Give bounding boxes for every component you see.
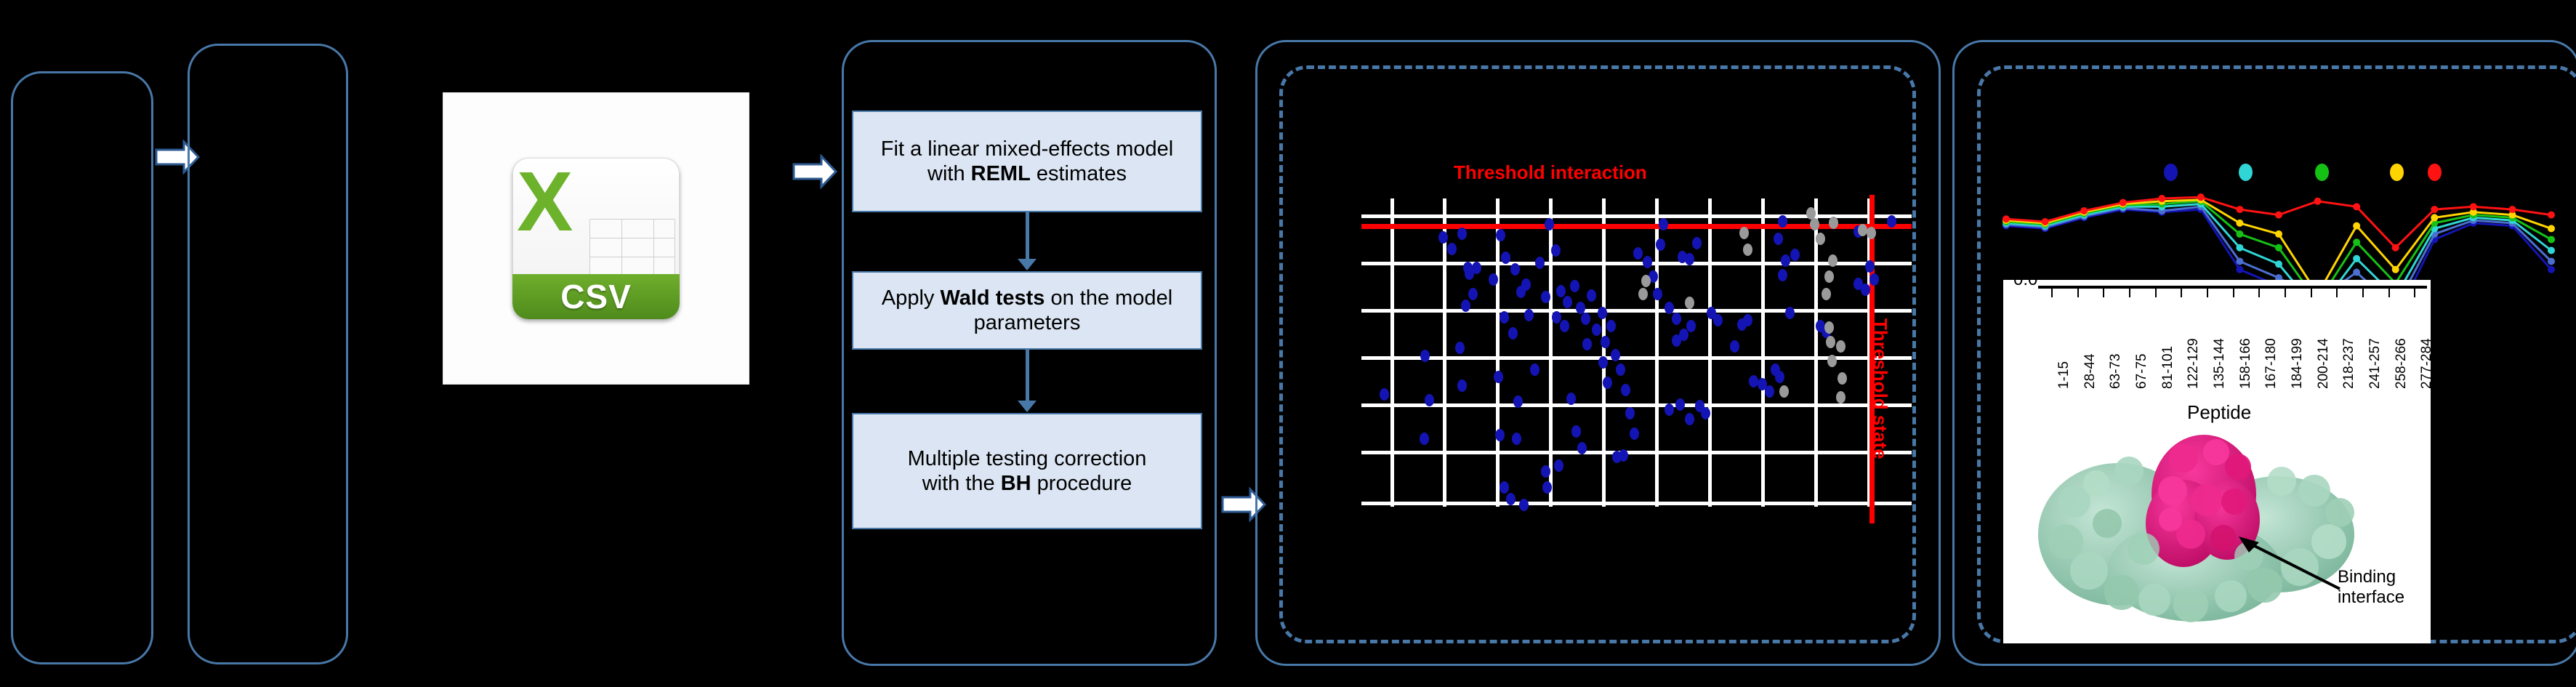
scatter-point (1701, 407, 1710, 419)
scatter-point (1865, 260, 1875, 273)
chart-data-point (2236, 258, 2243, 265)
chart-data-point (2392, 266, 2399, 273)
scatter-point (1598, 307, 1607, 319)
chart-data-point (2548, 212, 2555, 219)
chart-data-point (2197, 193, 2205, 201)
scatter-point (1659, 218, 1668, 230)
scatter-point (1420, 350, 1430, 362)
x-axis-tick-label: 63-73 (2108, 353, 2124, 389)
scatter-point (1822, 288, 1831, 300)
scatter-point (1461, 300, 1470, 312)
scatter-point (1713, 314, 1723, 326)
chart-data-point (2080, 207, 2088, 214)
y-axis-value: 0.0 (2013, 270, 2037, 290)
scatter-point (1781, 254, 1790, 267)
threshold-interaction-label: Threshold interaction (1454, 161, 1647, 184)
connector-2-arrowhead (1018, 401, 1037, 412)
grid-v (1496, 198, 1500, 507)
scatter-point (1861, 284, 1870, 296)
binding-interface-annotation: Binding interface (2338, 567, 2404, 607)
chart-data-point (2353, 255, 2360, 262)
scatter-point (1455, 342, 1465, 354)
grid-h (1361, 403, 1912, 407)
scatter-point (1541, 465, 1550, 478)
scatter-point (1508, 327, 1518, 340)
scatter-point (1685, 297, 1694, 309)
scatter-point (1611, 349, 1620, 361)
chart-data-point (2548, 266, 2555, 273)
scatter-point (1653, 288, 1662, 300)
scatter-point (1749, 375, 1758, 387)
scatter-point (1730, 340, 1739, 353)
x-axis-tick-label: 200-214 (2316, 338, 2332, 389)
chart-data-point (2236, 206, 2243, 213)
spreadsheet-grid (520, 219, 675, 276)
scatter-point (1495, 429, 1505, 441)
scatter-point (1552, 311, 1561, 324)
scatter-point (1685, 253, 1694, 265)
scatter-point (1500, 481, 1509, 494)
x-axis-tick (2414, 289, 2415, 297)
scatter-point (1686, 320, 1696, 332)
chart-data-point (2003, 215, 2010, 222)
scatter-point (1535, 257, 1545, 269)
scatter-point (1774, 233, 1783, 245)
scatter-point (1771, 363, 1780, 376)
scatter-point (1560, 320, 1569, 332)
x-axis-tick-label: 218-237 (2341, 338, 2357, 389)
scatter-point (1656, 238, 1665, 251)
chart-data-point (2275, 244, 2282, 252)
grid-h (1361, 451, 1912, 454)
scatter-point (1743, 244, 1752, 256)
x-axis-tick-label: 167-180 (2263, 338, 2279, 389)
binding-interface-line2: interface (2338, 587, 2404, 608)
scatter-point (1519, 499, 1529, 511)
grid-v (1814, 198, 1818, 507)
chart-data-point (2158, 195, 2165, 202)
scatter-point (1838, 372, 1847, 385)
scatter-point (1887, 215, 1896, 228)
x-axis-tick (2258, 289, 2260, 297)
chart-data-point (2431, 206, 2438, 213)
grid-v (1708, 198, 1712, 507)
scatter-point (1592, 324, 1601, 336)
scatter-point (1867, 227, 1876, 239)
binding-interface-line1: Binding (2338, 567, 2404, 587)
x-axis-tick (2051, 289, 2053, 297)
scatter-point (1489, 273, 1498, 286)
x-axis-tick (2181, 289, 2182, 297)
scatter-point (1743, 314, 1752, 326)
legend-dot (2315, 164, 2329, 181)
chart-data-point (2353, 203, 2360, 210)
scatter-point (1581, 313, 1590, 325)
scatter-point (1582, 338, 1592, 350)
peptide-line-chart (1992, 153, 2573, 298)
step-wald-text: Apply Wald tests on the model parameters (861, 286, 1194, 335)
chart-data-point (2120, 199, 2127, 206)
scatter-point (1790, 249, 1800, 261)
scatter-point (1836, 391, 1846, 403)
x-axis-tick-label: 67-75 (2134, 353, 2150, 389)
scatter-point (1438, 231, 1448, 244)
scatter-point (1542, 481, 1552, 494)
scatter-point (1501, 252, 1510, 264)
chart-data-point (2275, 260, 2282, 268)
scatter-point (1675, 398, 1685, 411)
legend-dot (2239, 164, 2253, 181)
scatter-point (1510, 263, 1520, 276)
chart-data-point (2353, 238, 2360, 246)
legend-dot (2428, 164, 2442, 181)
grid-v (1443, 198, 1446, 507)
scatter-point (1556, 285, 1566, 297)
scatter-point (1380, 388, 1389, 401)
chart-data-point (2508, 206, 2516, 213)
x-axis-tick-label: 241-257 (2367, 338, 2383, 389)
x-axis-tick-label: 122-129 (2186, 338, 2202, 389)
scatter-point (1869, 273, 1879, 286)
step-correction-text: Multiple testing correctionwith the BH p… (908, 446, 1147, 496)
chart-data-point (2548, 246, 2555, 254)
grid-v (1390, 198, 1394, 507)
scatter-point (1665, 302, 1674, 314)
csv-label-band: CSV (512, 274, 680, 319)
x-axis-tick (2103, 289, 2104, 297)
scatter-point (1494, 371, 1503, 383)
scatter-point (1621, 384, 1630, 396)
chart-data-point (2548, 236, 2555, 243)
scatter-point (1630, 427, 1639, 440)
scatter-point (1633, 247, 1643, 260)
scatter-point (1778, 269, 1787, 281)
step-model-text: Fit a linear mixed-effects model with RE… (861, 137, 1194, 186)
threshold-scatter-plot: Threshold interaction Threshold state (1345, 145, 1919, 523)
csv-label: CSV (560, 277, 632, 316)
connector-2 (1026, 350, 1029, 402)
scatter-point (1810, 218, 1819, 230)
step-model-box: Fit a linear mixed-effects model with RE… (852, 111, 1202, 212)
scatter-point (1827, 355, 1837, 367)
scatter-point (1641, 275, 1651, 287)
step-correction-box: Multiple testing correctionwith the BH p… (852, 413, 1202, 529)
legend-dot (2164, 164, 2178, 181)
scatter-point (1619, 449, 1628, 462)
scatter-point (1457, 228, 1467, 240)
scatter-point (1824, 270, 1834, 283)
grid-v (1602, 198, 1606, 507)
scatter-point (1824, 321, 1834, 334)
x-axis-tick (2155, 289, 2157, 297)
x-axis-tick (2207, 289, 2208, 297)
grid-h (1361, 214, 1912, 218)
x-axis-tick-label: 158-166 (2238, 338, 2254, 389)
scatter-point (1506, 493, 1516, 505)
scatter-point (1563, 296, 1572, 308)
chart-data-point (2314, 198, 2322, 205)
scatter-point (1625, 407, 1635, 419)
x-axis-tick (2077, 289, 2079, 297)
scatter-point (1739, 227, 1749, 239)
scatter-point (1779, 385, 1789, 398)
chart-data-point (2353, 222, 2360, 230)
x-axis-tick (2285, 289, 2286, 297)
x-axis-tick-label: 81-101 (2160, 346, 2176, 389)
data-panel (188, 44, 348, 664)
scatter-point (1785, 307, 1795, 319)
scatter-point (1551, 244, 1561, 257)
grid-v (1549, 198, 1553, 507)
chart-data-point (2548, 258, 2555, 265)
x-axis-tick-label: 184-199 (2290, 338, 2306, 389)
scatter-point (1829, 217, 1838, 229)
scatter-point (1858, 224, 1867, 236)
x-axis-tick (2129, 289, 2130, 297)
connector-1-arrowhead (1018, 259, 1037, 270)
chart-data-point (2236, 230, 2243, 238)
x-axis-tick (2362, 289, 2364, 297)
chart-data-point (2236, 244, 2243, 252)
chart-data-point (2042, 218, 2049, 225)
scatter-point (1468, 288, 1478, 300)
chart-data-point (2392, 244, 2399, 252)
x-axis-tick-label: 1-15 (2056, 361, 2072, 389)
scatter-point (1571, 425, 1581, 438)
scatter-point (1457, 379, 1467, 392)
scatter-point (1472, 262, 1481, 274)
csv-file-icon: X CSV (512, 158, 680, 319)
chart-data-point (2431, 214, 2438, 221)
scatter-point (1665, 403, 1674, 416)
grid-h (1361, 502, 1912, 505)
scatter-point (1598, 356, 1608, 369)
scatter-point (1836, 340, 1846, 353)
scatter-point (1554, 459, 1563, 472)
input-panel (11, 71, 153, 664)
legend-dot (2390, 164, 2404, 181)
x-axis-tick-label: 277-284 (2419, 338, 2435, 389)
scatter-point (1545, 218, 1554, 230)
scatter-point (1512, 433, 1521, 445)
x-axis-tick (2388, 289, 2390, 297)
chart-data-point (2548, 225, 2555, 232)
scatter-point (1530, 363, 1539, 376)
scatter-point (1638, 288, 1648, 300)
chart-data-point (2236, 220, 2243, 227)
scatter-point (1765, 385, 1774, 398)
scatter-point (1826, 336, 1835, 348)
step-wald-box: Apply Wald tests on the model parameters (852, 271, 1202, 350)
grid-h (1361, 309, 1912, 313)
scatter-point (1685, 413, 1694, 425)
scatter-point (1447, 243, 1457, 255)
scatter-point (1692, 237, 1702, 249)
scatter-point (1577, 442, 1587, 454)
scatter-point (1643, 256, 1652, 268)
scatter-point (1816, 233, 1825, 245)
scatter-point (1496, 229, 1505, 241)
scatter-point (1570, 280, 1579, 292)
scatter-point (1601, 336, 1610, 348)
x-axis-tick (2311, 289, 2312, 297)
x-axis-tick (2336, 289, 2338, 297)
scatter-point (1425, 394, 1434, 406)
x-axis-tick-label: 28-44 (2082, 353, 2098, 389)
scatter-point (1778, 215, 1787, 228)
scatter-point (1606, 320, 1616, 332)
threshold-state-label: Threshold state (1869, 318, 1891, 459)
scatter-point (1500, 311, 1509, 324)
connector-1 (1026, 212, 1029, 260)
scatter-point (1420, 433, 1429, 445)
chart-data-point (2470, 203, 2477, 210)
scatter-point (1566, 393, 1576, 405)
chart-data-point (2275, 212, 2282, 219)
scatter-point (1828, 254, 1838, 267)
scatter-point (1541, 291, 1550, 303)
grid-v (1761, 198, 1765, 507)
chart-data-point (2236, 266, 2243, 273)
chart-data-point (2275, 230, 2282, 238)
scatter-point (1587, 289, 1596, 302)
x-axis-tick-label: 135-144 (2212, 338, 2228, 389)
x-axis-tick-label: 258-266 (2394, 338, 2410, 389)
scatter-point (1603, 377, 1612, 389)
csv-file-card: X CSV (443, 93, 749, 384)
scatter-point (1513, 395, 1523, 408)
x-axis-tick (2233, 289, 2234, 297)
scatter-point (1672, 313, 1681, 325)
chart-data-point (2353, 269, 2360, 276)
scatter-point (1524, 309, 1534, 321)
peptide-axis-panel: 0.0 1-1528-4463-7367-7581-101122-129135-… (2003, 280, 2431, 643)
flow-arrow-2 (792, 154, 837, 189)
scatter-point (1521, 278, 1531, 291)
scatter-point (1616, 363, 1625, 376)
